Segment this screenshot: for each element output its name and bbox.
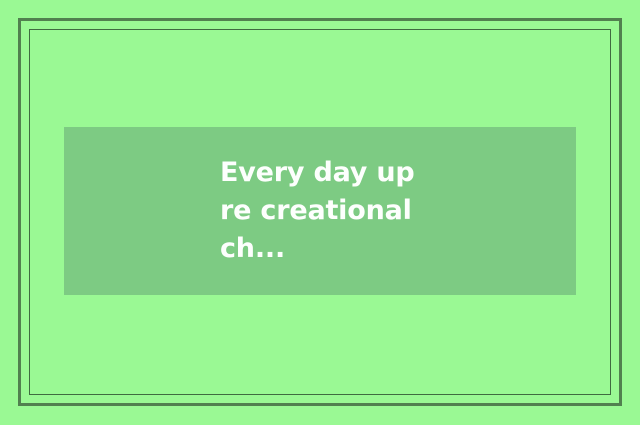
slide-canvas: Every day up re creational ch... (0, 0, 640, 425)
caption-panel: Every day up re creational ch... (64, 127, 576, 295)
caption-text: Every day up re creational ch... (220, 154, 420, 268)
